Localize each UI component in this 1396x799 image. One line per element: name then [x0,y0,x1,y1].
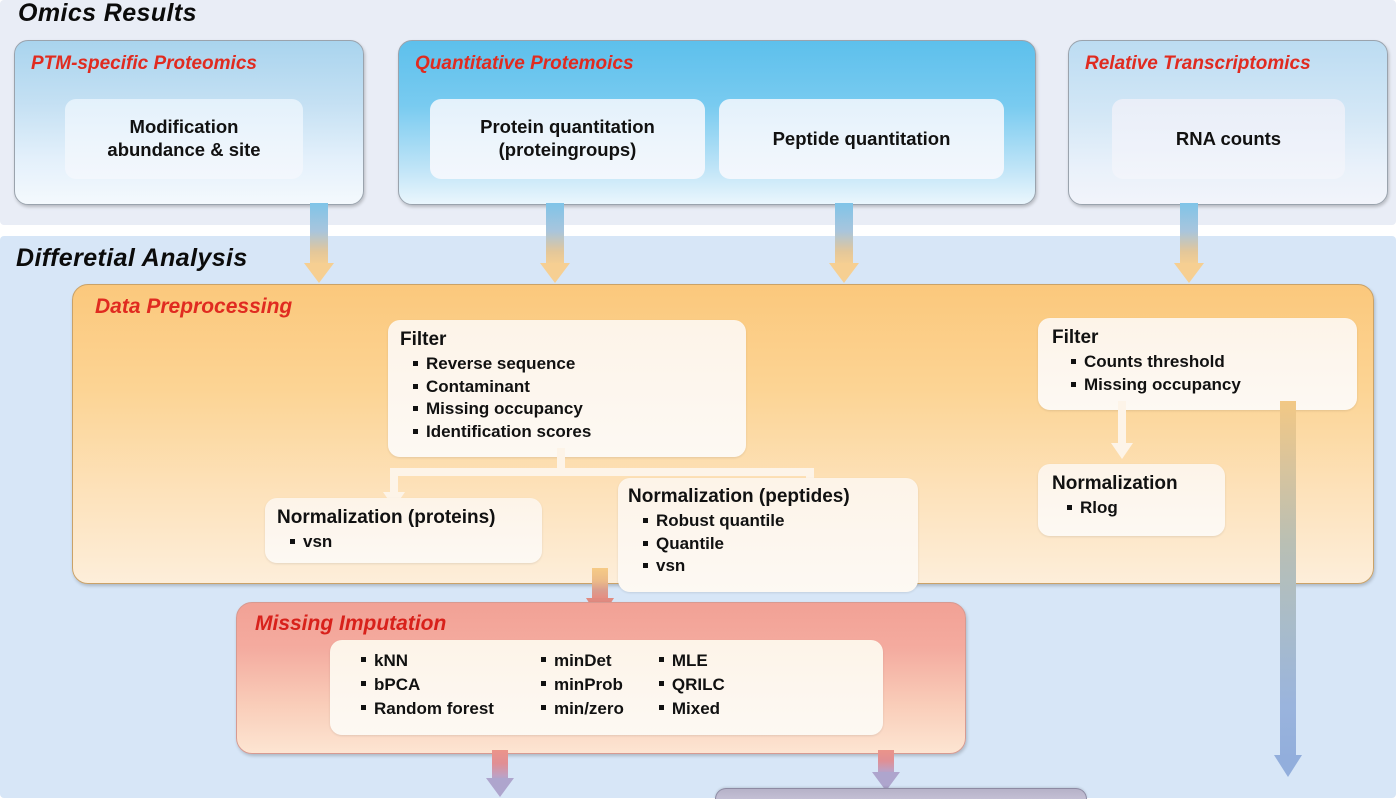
normalization-rna-heading: Normalization [1052,473,1225,495]
box-peptide-quantitation[interactable]: Peptide quantitation [719,99,1004,179]
box-imputation-methods[interactable]: kNN bPCA Random forest minDet minProb mi… [330,640,883,735]
filter-rna-list: Counts threshold Missing occupancy [1068,351,1357,396]
box-normalization-rna[interactable]: Normalization Rlog [1038,464,1225,536]
card-ptm-specific-proteomics[interactable]: PTM-specific Proteomics Modificationabun… [14,40,364,205]
list-item: Rlog [1064,497,1225,520]
box-normalization-peptides[interactable]: Normalization (peptides) Robust quantile… [618,478,918,592]
list-item: Reverse sequence [410,353,746,376]
list-item: Identification scores [410,421,746,444]
box-filter-rna[interactable]: Filter Counts threshold Missing occupanc… [1038,318,1357,410]
box-normalization-proteins[interactable]: Normalization (proteins) vsn [265,498,542,563]
list-item: min/zero [538,697,624,721]
box-modification-abundance-site[interactable]: Modificationabundance & site [65,99,303,179]
card-title-transcriptomics: Relative Transcriptomics [1085,53,1311,75]
list-item: Quantile [640,533,918,556]
list-item: vsn [287,531,542,554]
imputation-column-3: MLE QRILC Mixed [624,649,725,721]
list-item: vsn [640,555,918,578]
list-item: QRILC [656,673,725,697]
filter-rna-heading: Filter [1052,327,1357,349]
imputation-column-1: kNN bPCA Random forest [330,649,494,721]
arrow-imputation-left-out [492,750,508,798]
normalization-peptides-list: Robust quantile Quantile vsn [640,510,918,578]
box-peptide-quantitation-label: Peptide quantitation [773,128,951,151]
card-title-ptm: PTM-specific Proteomics [31,53,257,75]
filter-proteomics-list: Reverse sequence Contaminant Missing occ… [410,353,746,443]
card-title-quantitative: Quantitative Protemoics [415,53,634,75]
list-item: minDet [538,649,624,673]
list-item: Counts threshold [1068,351,1357,374]
card-title-missing-imputation: Missing Imputation [255,612,446,636]
connector-rna-filter-arrowhead [1111,443,1133,459]
omics-results-title: Omics Results [18,0,197,28]
card-quantitative-proteomics[interactable]: Quantitative Protemoics Protein quantita… [398,40,1036,205]
connector-filter-left-drop [390,468,398,494]
list-item: Robust quantile [640,510,918,533]
connector-filter-crossbar [390,468,814,476]
normalization-proteins-heading: Normalization (proteins) [277,507,542,529]
normalization-proteins-list: vsn [287,531,542,554]
box-protein-quantitation-label: Protein quantitation(proteingroups) [480,116,655,161]
imputation-column-2: minDet minProb min/zero [494,649,624,721]
box-next-stage-partial[interactable] [715,788,1087,799]
list-item: Contaminant [410,376,746,399]
arrow-protein-to-preprocessing [546,203,564,285]
card-title-data-preprocessing: Data Preprocessing [95,295,292,319]
list-item: bPCA [358,673,494,697]
arrow-rna-to-preprocessing [1180,203,1198,285]
box-modification-label: Modificationabundance & site [107,116,260,161]
workflow-diagram: Omics Results PTM-specific Proteomics Mo… [0,0,1396,798]
arrow-ptm-to-preprocessing [310,203,328,285]
card-relative-transcriptomics[interactable]: Relative Transcriptomics RNA counts [1068,40,1388,205]
list-item: minProb [538,673,624,697]
box-protein-quantitation[interactable]: Protein quantitation(proteingroups) [430,99,705,179]
list-item: Missing occupancy [1068,374,1357,397]
filter-proteomics-heading: Filter [400,329,746,351]
connector-rna-filter-drop [1118,401,1126,445]
list-item: Random forest [358,697,494,721]
box-filter-proteomics[interactable]: Filter Reverse sequence Contaminant Miss… [388,320,746,457]
list-item: Mixed [656,697,725,721]
box-rna-counts-label: RNA counts [1176,128,1281,151]
arrow-rna-branch-long [1280,401,1296,791]
box-rna-counts[interactable]: RNA counts [1112,99,1345,179]
differential-analysis-title: Differetial Analysis [16,244,248,273]
list-item: Missing occupancy [410,398,746,421]
arrow-peptide-to-preprocessing [835,203,853,285]
list-item: kNN [358,649,494,673]
normalization-peptides-heading: Normalization (peptides) [628,486,918,508]
list-item: MLE [656,649,725,673]
normalization-rna-list: Rlog [1064,497,1225,520]
